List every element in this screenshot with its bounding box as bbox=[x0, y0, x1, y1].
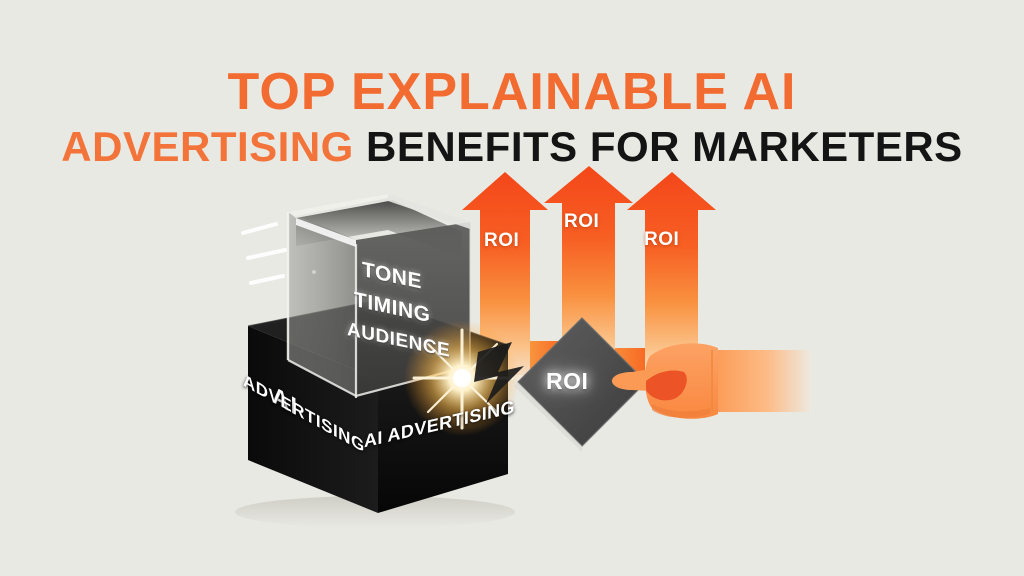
hero-illustration bbox=[0, 0, 1024, 576]
poster-canvas: TOP EXPLAINABLE AI ADVERTISING BENEFITS … bbox=[0, 0, 1024, 576]
glass-cube-glint bbox=[312, 270, 316, 274]
hand-cuff bbox=[712, 350, 812, 412]
speed-lines bbox=[243, 224, 285, 283]
